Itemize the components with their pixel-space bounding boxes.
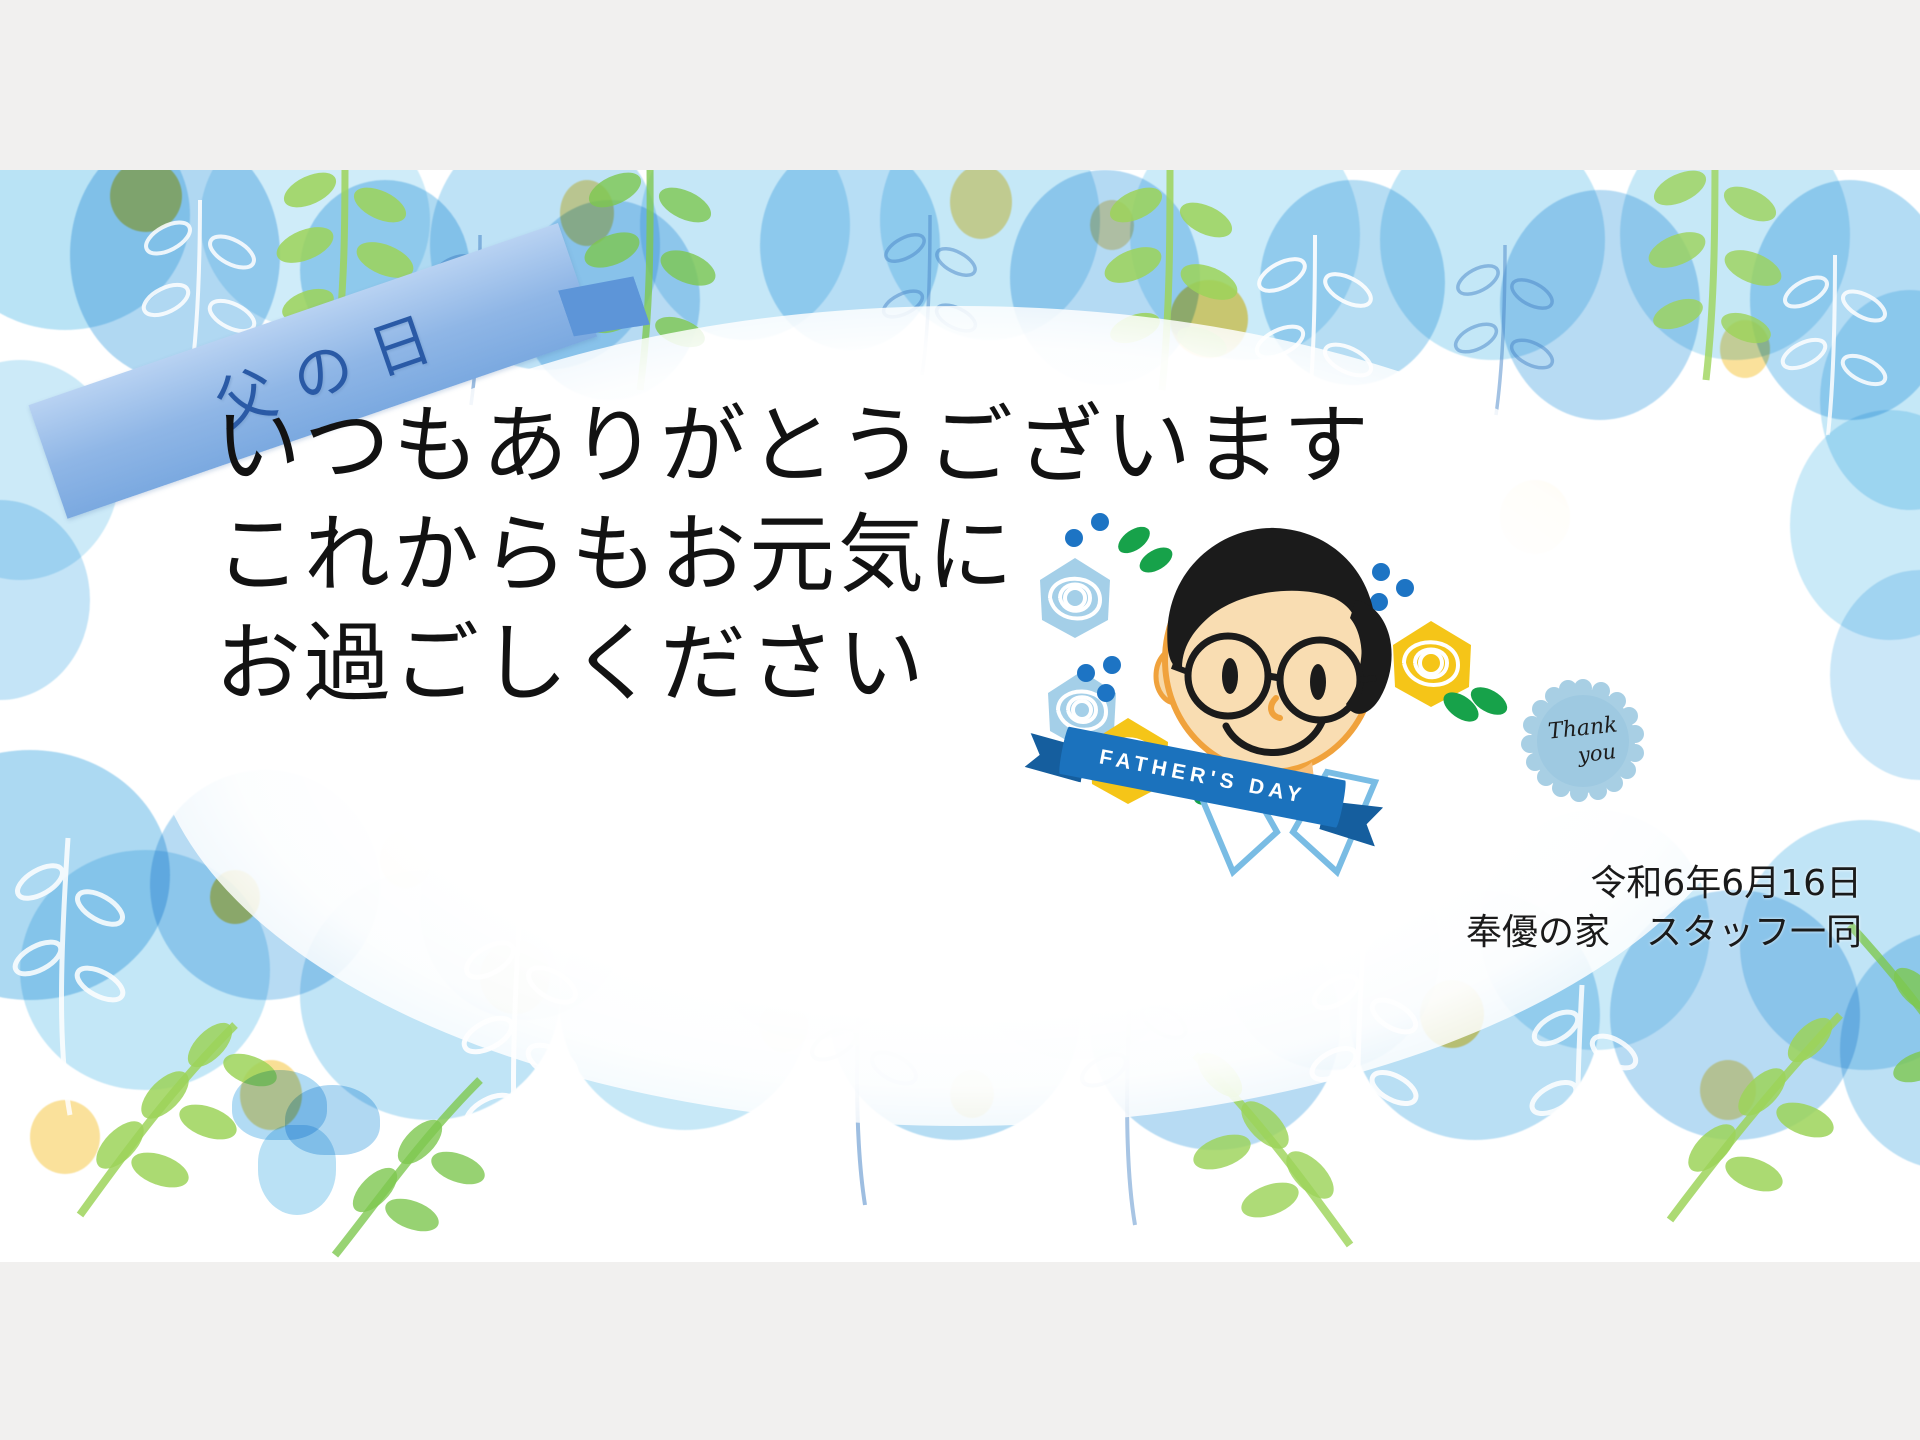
signature-date: 令和6年6月16日 [1466, 860, 1862, 909]
signature-block: 令和6年6月16日 奉優の家 スタッフ一同 [1466, 860, 1862, 958]
watercolor-dot [210, 870, 260, 924]
watercolor-flower [232, 1070, 327, 1140]
watercolor-flower [258, 1125, 336, 1215]
leaf-sprig-icon [1080, 170, 1260, 400]
watercolor-flower [285, 1085, 380, 1155]
watercolor-blob [150, 770, 380, 1000]
watercolor-blob [640, 170, 850, 340]
greeting-line-1: いつもありがとうございます [215, 392, 1395, 501]
watercolor-dot [30, 1100, 100, 1174]
greeting-card-slide: 父の日 いつもありがとうございます これからもお元気に お過ごしください [0, 170, 1920, 1262]
watercolor-dot [950, 1070, 994, 1118]
watercolor-blob [700, 810, 920, 1040]
watercolor-blob [560, 880, 810, 1130]
blue-leaf-outline-icon [790, 910, 940, 1210]
watercolor-dot [1090, 200, 1134, 250]
watercolor-dot [1700, 1060, 1756, 1120]
watercolor-blob [1260, 180, 1445, 385]
watercolor-blob [760, 170, 940, 350]
green-leaf-icon [1435, 685, 1515, 755]
leaf-sprig-icon [1650, 960, 1880, 1230]
badge-text-group: Thank you [1532, 690, 1634, 792]
watercolor-dot [1170, 280, 1248, 358]
watercolor-blob [0, 750, 170, 1000]
watercolor-blob [1750, 180, 1920, 420]
thank-you-badge: Thank you [1520, 678, 1646, 804]
page-canvas: 父の日 いつもありがとうございます これからもお元気に お過ごしください [0, 0, 1920, 1440]
watercolor-dot [380, 830, 432, 888]
watercolor-blob [1820, 290, 1920, 510]
watercolor-blob [1620, 170, 1850, 360]
watercolor-dot [240, 1060, 302, 1130]
watercolor-dot [950, 170, 1012, 239]
fathers-day-label: FATHER'S DAY [1097, 745, 1307, 809]
thank-you-line-2: you [1577, 739, 1618, 767]
watercolor-dot [560, 180, 614, 246]
leaf-sprig-icon [60, 970, 280, 1220]
white-leaf-outline-icon [1760, 250, 1910, 440]
watercolor-blob [300, 870, 560, 1120]
watercolor-blob [420, 800, 630, 1020]
watercolor-blob [0, 500, 90, 700]
watercolor-blob [1010, 170, 1200, 385]
leaf-sprig-icon [560, 170, 740, 400]
watercolor-blob [1840, 930, 1920, 1170]
watercolor-blob [0, 170, 190, 330]
leaf-sprig-icon [1150, 1000, 1370, 1250]
watercolor-blob [1380, 170, 1605, 360]
leaf-sprig-icon [1620, 170, 1810, 390]
watercolor-dot [110, 170, 182, 232]
watercolor-blob [1500, 190, 1700, 420]
watercolor-blob [1130, 170, 1360, 360]
watercolor-blob [1830, 570, 1920, 780]
leaf-sprig-icon [320, 1030, 520, 1260]
watercolor-dot [760, 1000, 808, 1052]
watercolor-blob [1790, 410, 1920, 640]
blue-leaf-outline-icon [1430, 240, 1580, 420]
watercolor-blob [20, 850, 270, 1090]
blue-leaf-outline-icon [860, 210, 1000, 380]
signature-sender: 奉優の家 スタッフ一同 [1466, 909, 1862, 958]
watercolor-dot [1720, 320, 1770, 378]
white-leaf-outline-icon [1510, 970, 1660, 1250]
watercolor-blob [880, 170, 1100, 340]
white-leaf-outline-icon [0, 820, 150, 1120]
white-leaf-outline-icon [440, 890, 600, 1220]
watercolor-dot [480, 940, 550, 1014]
